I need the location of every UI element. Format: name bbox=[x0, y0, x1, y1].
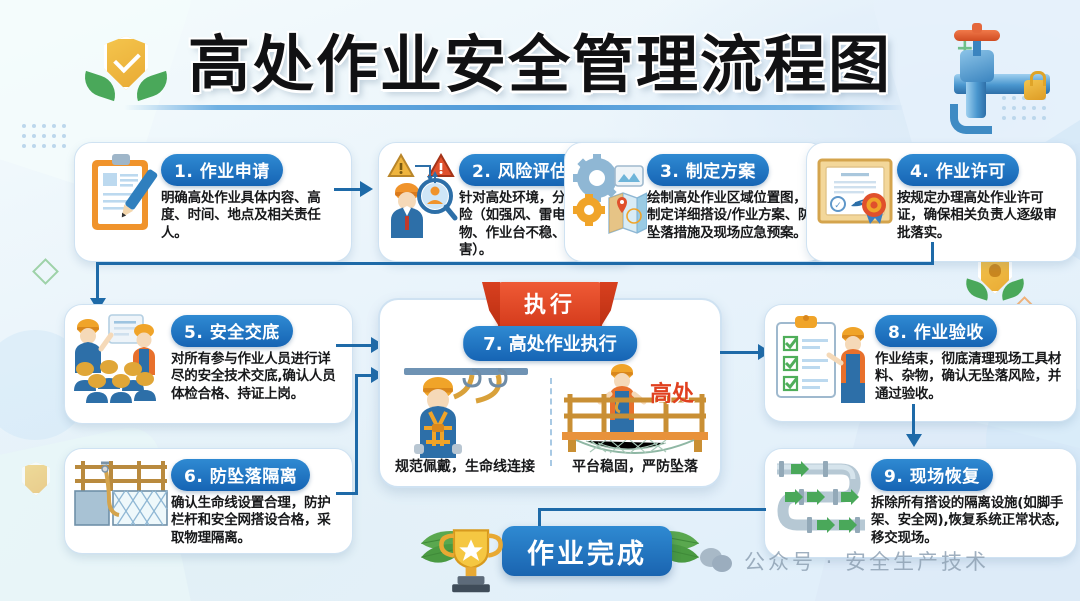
execution-highlight: 高处 bbox=[650, 376, 694, 408]
page-title: 高处作业安全管理流程图 bbox=[0, 14, 1080, 104]
decor-diamond-green bbox=[32, 258, 59, 285]
step-6-pill: 6. 防坠落隔离 bbox=[171, 459, 310, 491]
step-card-8[interactable]: 8. 作业验收 作业结束，彻底清理现场工具材料、杂物，确认无坠落风险，并通过验收… bbox=[764, 304, 1077, 422]
page-header: 高处作业安全管理流程图 + bbox=[0, 0, 1080, 122]
finish-label: 作业完成 bbox=[527, 532, 647, 571]
pipeline-flow-icon bbox=[771, 457, 871, 537]
finish-banner[interactable]: 作业完成 bbox=[502, 526, 672, 576]
watermark-text: 公众号 · 安全生产技术 bbox=[744, 546, 989, 576]
step-9-body: 9. 现场恢复 拆除所有搭设的隔离设施(如脚手架、安全网),恢复系统正常状态,移… bbox=[871, 457, 1067, 547]
step-card-9[interactable]: 9. 现场恢复 拆除所有搭设的隔离设施(如脚手架、安全网),恢复系统正常状态,移… bbox=[764, 448, 1077, 558]
step-8-body: 8. 作业验收 作业结束，彻底清理现场工具材料、杂物，确认无坠落风险，并通过验收… bbox=[875, 313, 1067, 403]
clipboard-pen-icon bbox=[83, 152, 161, 236]
decor-dot-grid-left bbox=[22, 124, 72, 154]
harness-lifeline-icon bbox=[398, 362, 538, 458]
step-card-1[interactable]: 1. 作业申请 明确高处作业具体内容、高度、时间、地点及相关责任人。 bbox=[74, 142, 352, 262]
gears-map-icon bbox=[571, 152, 647, 238]
step-9-desc: 拆除所有搭设的隔离设施(如脚手架、安全网),恢复系统正常状态,移交现场。 bbox=[871, 495, 1067, 547]
step-4-desc: 按规定办理高处作业许可证，确保相关负责人逐级审批落实。 bbox=[897, 190, 1067, 242]
valve-faucet-icon bbox=[932, 26, 1052, 122]
finish-group: 作业完成 bbox=[412, 522, 692, 584]
step-1-pill: 1. 作业申请 bbox=[161, 154, 283, 186]
watermark: 公众号 · 安全生产技术 bbox=[700, 546, 989, 576]
briefing-crowd-icon bbox=[71, 313, 171, 405]
svg-text:✓: ✓ bbox=[834, 201, 842, 211]
step-card-5[interactable]: 5. 安全交底 对所有参与作业人员进行详尽的安全技术交底,确认人员体检合格、持证… bbox=[64, 304, 353, 424]
step-card-4[interactable]: ✓ 4. 作业许可 按规定办理高处作业许可证，确保相关负责人逐级审批落实。 bbox=[806, 142, 1077, 262]
step-5-pill: 5. 安全交底 bbox=[171, 315, 293, 347]
checklist-worker-icon bbox=[771, 313, 875, 403]
step-4-body: 4. 作业许可 按规定办理高处作业许可证，确保相关负责人逐级审批落实。 bbox=[897, 152, 1067, 242]
platform-guardrail-icon bbox=[560, 358, 710, 458]
step-1-body: 1. 作业申请 明确高处作业具体内容、高度、时间、地点及相关责任人。 bbox=[161, 152, 341, 242]
step-card-6[interactable]: 6. 防坠落隔离 确认生命线设置合理，防护栏杆和安全网搭设合格，采取物理隔离。 bbox=[64, 448, 353, 554]
step-6-body: 6. 防坠落隔离 确认生命线设置合理，防护栏杆和安全网搭设合格，采取物理隔离。 bbox=[171, 457, 343, 547]
step-4-pill: 4. 作业许可 bbox=[897, 154, 1019, 186]
title-underline bbox=[124, 105, 904, 110]
step-8-desc: 作业结束，彻底清理现场工具材料、杂物，确认无坠落风险，并通过验收。 bbox=[875, 351, 1067, 403]
step-3-body: 3. 制定方案 绘制高处作业区域位置图，制定详细搭设/作业方案、防坠落措施及现场… bbox=[647, 152, 817, 242]
execution-panel[interactable]: 执行 7. 高处作业执行 bbox=[378, 298, 722, 488]
inspector-magnifier-warning-icon bbox=[385, 152, 459, 238]
guardrail-safety-net-icon bbox=[71, 457, 171, 533]
step-7-pill: 7. 高处作业执行 bbox=[463, 326, 637, 361]
execution-left-caption: 规范佩戴，生命线连接 bbox=[387, 456, 543, 476]
wechat-icon bbox=[700, 548, 734, 574]
decor-shield-small bbox=[18, 462, 54, 502]
step-8-pill: 8. 作业验收 bbox=[875, 315, 997, 347]
step-5-body: 5. 安全交底 对所有参与作业人员进行详尽的安全技术交底,确认人员体检合格、持证… bbox=[171, 313, 343, 403]
execution-right-caption: 平台稳固，严防坠落 bbox=[557, 456, 713, 476]
step-1-desc: 明确高处作业具体内容、高度、时间、地点及相关责任人。 bbox=[161, 190, 341, 242]
execution-divider bbox=[550, 378, 552, 466]
flowchart-page: 高处作业安全管理流程图 + bbox=[0, 0, 1080, 601]
execution-ribbon: 执行 bbox=[498, 282, 602, 328]
certificate-seal-icon: ✓ bbox=[815, 152, 897, 236]
trophy-icon bbox=[436, 524, 506, 596]
step-3-pill: 3. 制定方案 bbox=[647, 154, 769, 186]
padlock-icon bbox=[1024, 80, 1046, 100]
step-3-desc: 绘制高处作业区域位置图，制定详细搭设/作业方案、防坠落措施及现场应急预案。 bbox=[647, 190, 817, 242]
step-card-3[interactable]: 3. 制定方案 绘制高处作业区域位置图，制定详细搭设/作业方案、防坠落措施及现场… bbox=[564, 142, 826, 262]
step-6-desc: 确认生命线设置合理，防护栏杆和安全网搭设合格，采取物理隔离。 bbox=[171, 495, 343, 547]
step-9-pill: 9. 现场恢复 bbox=[871, 459, 993, 491]
step-5-desc: 对所有参与作业人员进行详尽的安全技术交底,确认人员体检合格、持证上岗。 bbox=[171, 351, 343, 403]
step-2-pill: 2. 风险评估 bbox=[459, 154, 581, 186]
